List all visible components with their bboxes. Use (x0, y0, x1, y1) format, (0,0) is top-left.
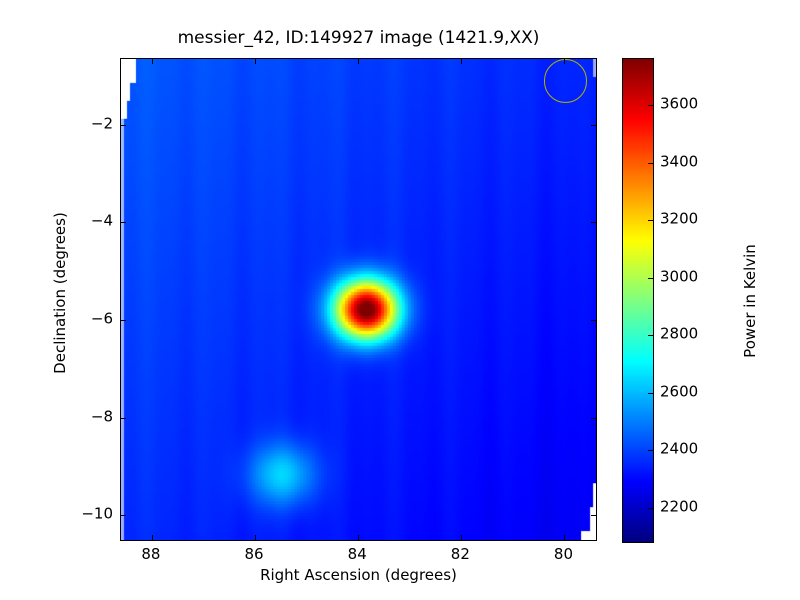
x-axis-label: Right Ascension (degrees) (120, 566, 597, 584)
y-tick-label--2: −2 (113, 115, 135, 132)
x-tick-84 (358, 535, 359, 540)
sky-heatmap (121, 59, 596, 540)
x-tick-top-88 (152, 59, 153, 64)
colorbar-tick-label-3200: 3200 (660, 211, 698, 228)
y-tick-right--8 (591, 418, 596, 419)
y-tick-right--10 (591, 515, 596, 516)
colorbar-tick-3400 (648, 163, 653, 164)
figure-canvas: messier_42, ID:149927 image (1421.9,XX) … (0, 0, 800, 600)
colorbar-tick-label-2400: 2400 (660, 441, 698, 458)
colorbar-tick-3600 (648, 105, 653, 106)
y-tick-label--8: −8 (113, 408, 135, 425)
page-title: messier_42, ID:149927 image (1421.9,XX) (120, 28, 597, 48)
x-tick-80 (564, 535, 565, 540)
colorbar-tick-2600 (648, 393, 653, 394)
colorbar-tick-label-2800: 2800 (660, 326, 698, 343)
y-tick-label--6: −6 (113, 311, 135, 328)
y-tick-right--6 (591, 320, 596, 321)
colorbar-tick-label-3400: 3400 (660, 153, 698, 170)
colorbar[interactable] (622, 58, 654, 543)
x-tick-label-82: 82 (451, 546, 470, 563)
y-axis-label: Declination (degrees) (51, 53, 69, 533)
x-tick-label-86: 86 (245, 546, 264, 563)
x-tick-top-84 (358, 59, 359, 64)
colorbar-tick-label-3000: 3000 (660, 268, 698, 285)
colorbar-tick-label-2600: 2600 (660, 383, 698, 400)
sky-image-axes[interactable] (120, 58, 597, 541)
colorbar-gradient (623, 59, 653, 542)
y-tick-label--4: −4 (113, 213, 135, 230)
colorbar-tick-label-2200: 2200 (660, 499, 698, 516)
x-tick-top-86 (255, 59, 256, 64)
y-tick-right--2 (591, 125, 596, 126)
x-tick-top-80 (564, 59, 565, 64)
x-tick-label-84: 84 (348, 546, 367, 563)
colorbar-label: Power in Kelvin (741, 61, 759, 541)
colorbar-tick-2400 (648, 450, 653, 451)
colorbar-tick-3200 (648, 220, 653, 221)
x-tick-label-88: 88 (141, 546, 160, 563)
y-tick-right--4 (591, 222, 596, 223)
x-tick-82 (461, 535, 462, 540)
region-circle-annotation (544, 59, 587, 102)
y-tick-label--10: −10 (113, 506, 145, 523)
colorbar-tick-2200 (648, 508, 653, 509)
x-tick-86 (255, 535, 256, 540)
colorbar-tick-3000 (648, 278, 653, 279)
colorbar-tick-2800 (648, 335, 653, 336)
colorbar-tick-label-3600: 3600 (660, 96, 698, 113)
x-tick-label-80: 80 (554, 546, 573, 563)
x-tick-88 (152, 535, 153, 540)
x-tick-top-82 (461, 59, 462, 64)
